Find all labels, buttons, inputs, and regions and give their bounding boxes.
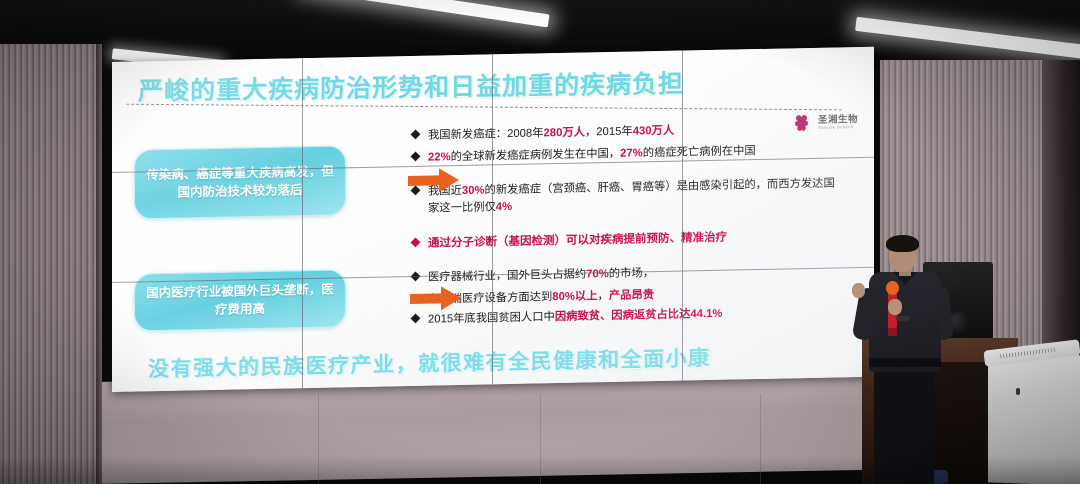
confidence-monitor [988,350,1080,484]
bullet-item: 22%的全球新发癌症病例发生在中国，27%的癌症死亡病例在中国 [412,142,842,168]
slide-title: 严峻的重大疾病防治形势和日益加重的疾病负担 [138,64,684,108]
bullet-diamond-icon [411,272,421,282]
wall-seam [540,394,541,484]
microphone-head-icon [886,281,899,295]
presenter-torso [869,272,941,372]
bullet-list: 我国新发癌症：2008年280万人，2015年430万人 22%的全球新发癌症病… [412,119,842,334]
wall-edge-trim [96,44,102,484]
presenter-wristwatch [896,316,909,321]
callout-box-1: 传染病、癌症等重大疾病高发，但国内防治技术较为落后 [134,145,346,219]
presenter-belt [869,358,941,367]
bullet-text: 我国近30%的新发癌症（宫颈癌、肝癌、胃癌等）是由感染引起的，而西方发达国家这一… [428,176,842,219]
callout-text: 国内医疗行业被国外巨头垄断，医疗费用高 [145,280,335,320]
logo-name-en: Sansure Biotech [818,125,858,130]
arrow-right-icon [410,285,462,312]
presenter-hand-right [888,299,902,315]
bullet-item: 我国新发癌症：2008年280万人，2015年430万人 [412,119,842,145]
video-wall-display[interactable]: 严峻的重大疾病防治形势和日益加重的疾病负担 圣湘生物 Sansure Biote… [112,47,874,392]
presenter-legs [874,366,934,484]
wall-seam [318,394,319,484]
presenter-hair [886,235,919,252]
bullet-diamond-icon [411,237,421,247]
left-slatted-wall [0,44,100,484]
monitor-port [1016,388,1020,395]
callout-box-2: 国内医疗行业被国外巨头垄断，医疗费用高 [134,269,346,331]
slide-footer-slogan: 没有强大的民族医疗产业，就很难有全民健康和全面小康 [148,342,711,383]
bullet-text: 22%的全球新发癌症病例发生在中国，27%的癌症死亡病例在中国 [428,142,842,167]
bullet-diamond-icon [411,314,421,324]
bullet-diamond-icon [411,152,421,162]
bullet-item: 我国近30%的新发癌症（宫颈癌、肝癌、胃癌等）是由感染引起的，而西方发达国家这一… [412,176,842,219]
conference-room-scene: 严峻的重大疾病防治形势和日益加重的疾病负担 圣湘生物 Sansure Biote… [0,0,1080,484]
presentation-slide: 严峻的重大疾病防治形势和日益加重的疾病负担 圣湘生物 Sansure Biote… [112,47,874,392]
presenter-hand-left [852,283,865,298]
arrow-right-icon [408,167,460,194]
company-logo: 圣湘生物 Sansure Biotech [791,111,858,134]
callout-text: 传染病、癌症等重大疾病高发，但国内防治技术较为落后 [145,162,335,202]
bullet-text: 我国新发癌症：2008年280万人，2015年430万人 [428,119,842,144]
wall-seam [760,394,761,484]
sansure-logo-icon [791,112,813,134]
bullet-diamond-icon [411,129,421,139]
